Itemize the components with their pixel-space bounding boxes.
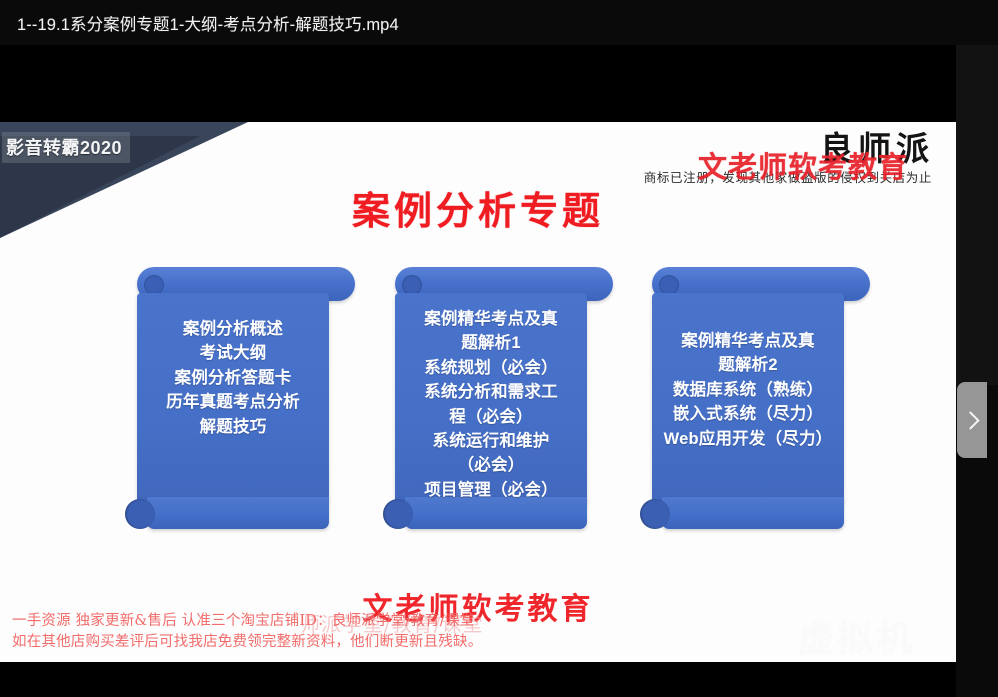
- scroll-top-knob: [659, 275, 679, 295]
- card-2-line-2: 题解析1: [391, 331, 591, 355]
- window-titlebar: 1--19.1系分案例专题1-大纲-考点分析-解题技巧.mp4: [0, 0, 998, 45]
- scroll-card-3: 案例精华考点及真 题解析2 数据库系统（熟练） 嵌入式系统（尽力） Web应用开…: [652, 267, 844, 529]
- card-2-line-3: 系统规划（必会）: [391, 356, 591, 380]
- card-1-line-1: 案例分析概述: [133, 317, 333, 341]
- chevron-right-icon: [961, 411, 979, 429]
- card-3-line-3: 数据库系统（熟练）: [648, 378, 848, 402]
- scroll-bottom-knob: [383, 499, 413, 529]
- slide-heading: 案例分析专题: [0, 180, 956, 235]
- card-2-line-1: 案例精华考点及真: [391, 307, 591, 331]
- scroll-card-1-text: 案例分析概述 考试大纲 案例分析答题卡 历年真题考点分析 解题技巧: [133, 317, 333, 439]
- card-1-line-3: 案例分析答题卡: [133, 366, 333, 390]
- converter-watermark: 影音转霸2020: [2, 132, 130, 163]
- card-2-line-4: 系统分析和需求工: [391, 380, 591, 404]
- window-title: 1--19.1系分案例专题1-大纲-考点分析-解题技巧.mp4: [0, 11, 399, 35]
- card-2-line-5: 程（必会）: [391, 405, 591, 429]
- card-2-line-7: （必会）: [391, 453, 591, 477]
- next-video-button[interactable]: [957, 382, 987, 458]
- card-3-line-5: Web应用开发（尽力）: [648, 427, 848, 451]
- card-2-line-6: 系统运行和维护: [391, 429, 591, 453]
- scroll-top-knob: [144, 275, 164, 295]
- scroll-bottom-roll: [662, 497, 844, 529]
- scroll-card-3-text: 案例精华考点及真 题解析2 数据库系统（熟练） 嵌入式系统（尽力） Web应用开…: [648, 329, 848, 451]
- card-3-line-4: 嵌入式系统（尽力）: [648, 402, 848, 426]
- footer-line-2: 如在其他店购买差评后可找我店免费领完整新资料，他们断更新且残缺。: [12, 632, 482, 653]
- footer-note: 一手资源 独家更新&售后 认准三个淘宝店铺ID：良师派学堂/教育/课堂 如在其他…: [12, 611, 482, 653]
- scroll-card-1: 案例分析概述 考试大纲 案例分析答题卡 历年真题考点分析 解题技巧: [137, 267, 329, 529]
- faint-watermark: 虚拟机 www.hhnopc.com: [775, 610, 938, 662]
- scroll-bottom-knob: [125, 499, 155, 529]
- video-player-window: 1--19.1系分案例专题1-大纲-考点分析-解题技巧.mp4 影音转霸2020…: [0, 0, 998, 697]
- video-stage[interactable]: 影音转霸2020 良师派 商标已注册，发现其他家做盗版的侵权到关店为止 文老师软…: [0, 45, 998, 697]
- card-3-line-1: 案例精华考点及真: [648, 329, 848, 353]
- footer-line-1: 一手资源 独家更新&售后 认准三个淘宝店铺ID：良师派学堂/教育/课堂: [12, 611, 482, 632]
- scroll-card-2-text: 案例精华考点及真 题解析1 系统规划（必会） 系统分析和需求工 程（必会） 系统…: [391, 307, 591, 502]
- slide-canvas: 影音转霸2020 良师派 商标已注册，发现其他家做盗版的侵权到关店为止 文老师软…: [0, 122, 956, 662]
- scroll-card-2: 案例精华考点及真 题解析1 系统规划（必会） 系统分析和需求工 程（必会） 系统…: [395, 267, 587, 529]
- faint-watermark-main: 虚拟机: [775, 610, 938, 662]
- card-1-line-2: 考试大纲: [133, 341, 333, 365]
- scroll-top-knob: [402, 275, 422, 295]
- card-2-line-8: 项目管理（必会）: [391, 478, 591, 502]
- card-1-line-4: 历年真题考点分析: [133, 390, 333, 414]
- scroll-bottom-roll: [147, 497, 329, 529]
- card-1-line-5: 解题技巧: [133, 415, 333, 439]
- scroll-bottom-knob: [640, 499, 670, 529]
- card-3-line-2: 题解析2: [648, 353, 848, 377]
